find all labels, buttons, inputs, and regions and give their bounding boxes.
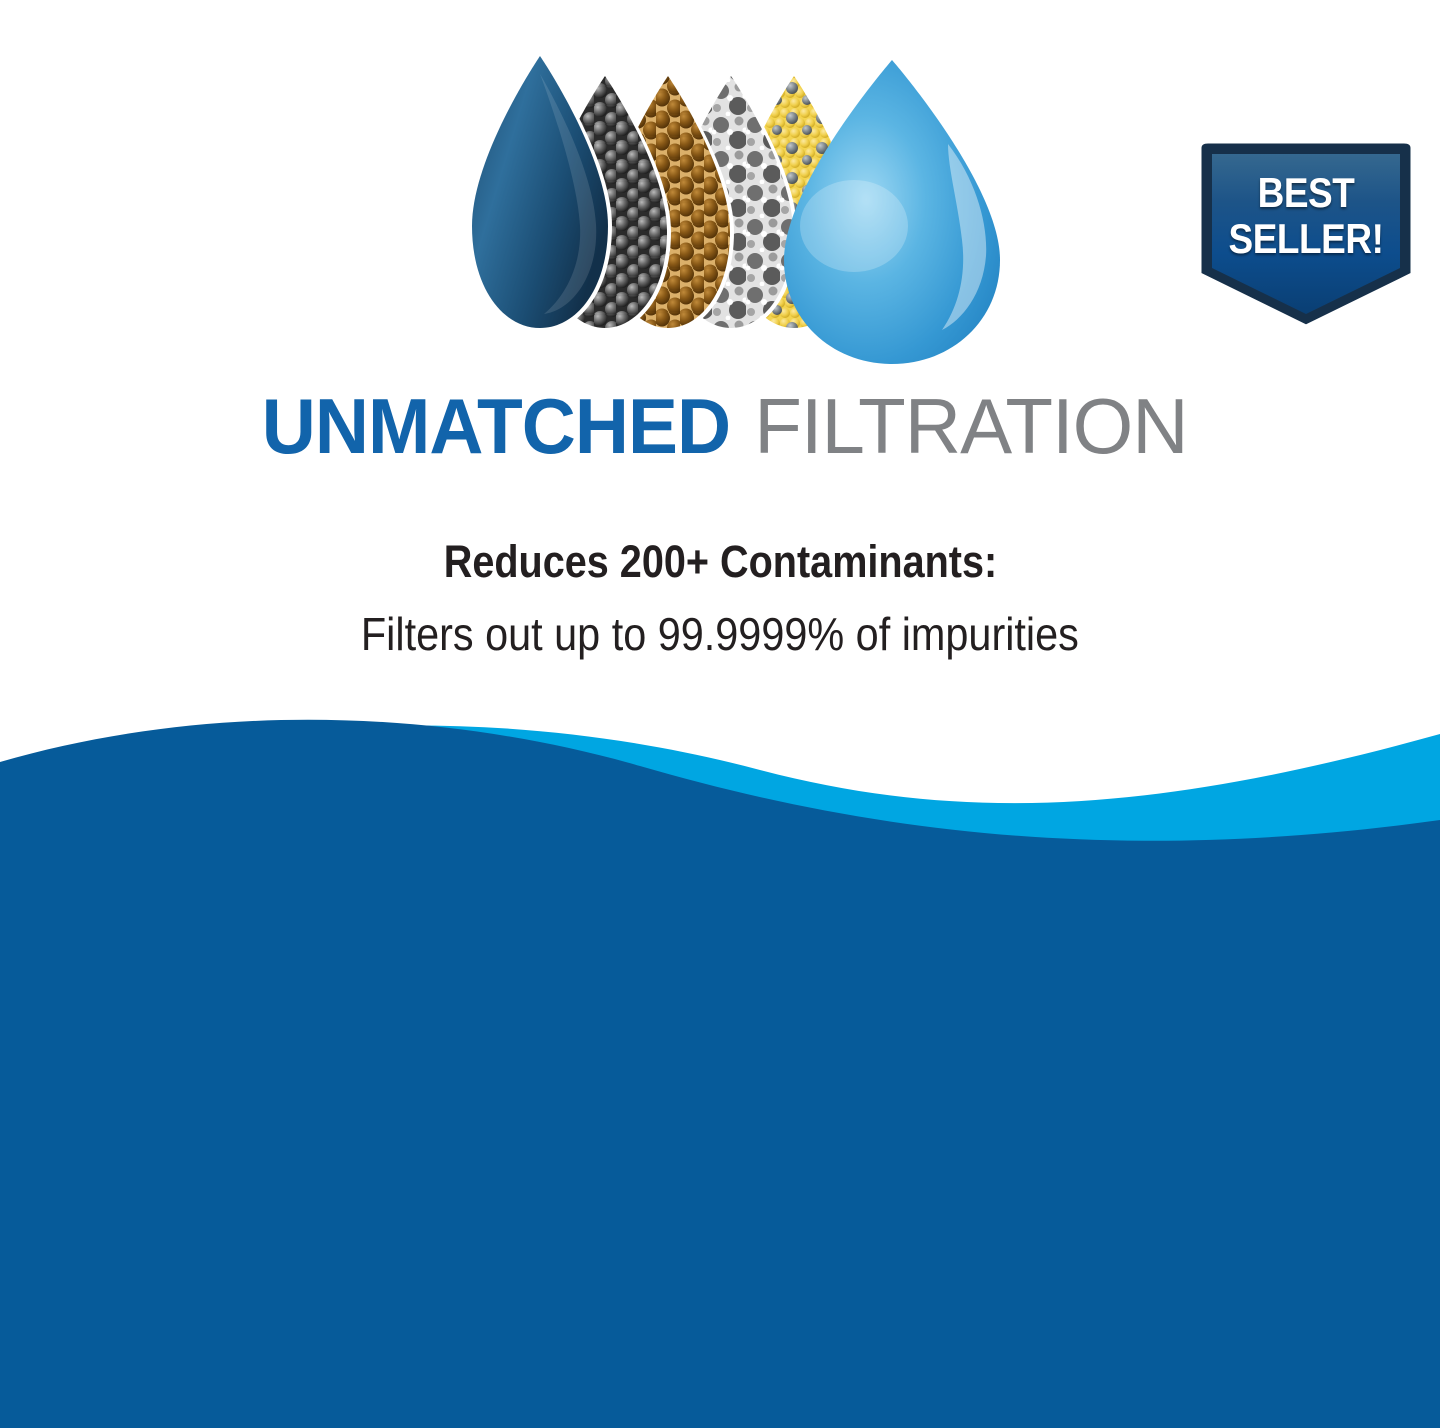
purified-water-droplet bbox=[784, 60, 1000, 364]
best-seller-badge: BEST SELLER! bbox=[1186, 140, 1426, 340]
hero-section: BEST SELLER! UNMATCHEDFILTRATION Reduces… bbox=[0, 0, 1440, 740]
water-droplet-filtration-stages bbox=[440, 48, 1040, 368]
page-title-emphasis: UNMATCHED bbox=[262, 383, 730, 469]
page-title: UNMATCHEDFILTRATION bbox=[0, 383, 1440, 469]
subtitle-primary: Reduces 200+ Contaminants: bbox=[0, 533, 1440, 591]
subtitle-secondary-text: Filters out up to 99.9999% of impurities bbox=[361, 603, 1079, 665]
page-title-rest: FILTRATION bbox=[754, 383, 1187, 469]
wave-divider bbox=[0, 700, 1440, 880]
raw-water-droplet bbox=[468, 52, 612, 332]
subtitle-secondary: Filters out up to 99.9999% of impurities bbox=[0, 603, 1440, 665]
subtitle-primary-text: Reduces 200+ Contaminants: bbox=[443, 533, 996, 591]
infographic-page: BEST SELLER! UNMATCHEDFILTRATION Reduces… bbox=[0, 0, 1440, 1428]
contaminants-panel: INCLUDING: Bacteria (>99.9999%) Chlorine… bbox=[0, 700, 1440, 1428]
